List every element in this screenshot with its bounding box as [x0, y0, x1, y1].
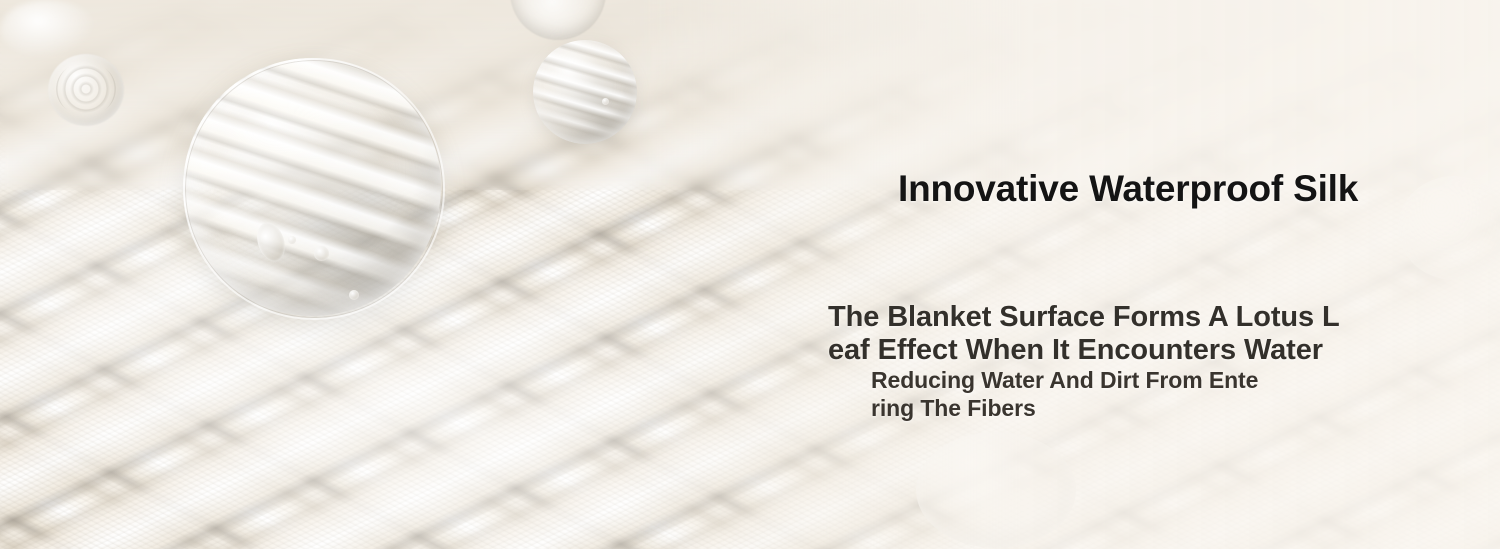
droplet-air-bubble: [314, 246, 329, 261]
banner-headline: Innovative Waterproof Silk: [898, 168, 1358, 210]
droplet-air-bubble: [349, 290, 359, 300]
small-left-droplet-refraction: [56, 62, 116, 116]
subtext-line: Reducing Water And Dirt From Ente: [871, 366, 1381, 394]
description-line: The Blanket Surface Forms A Lotus L: [828, 301, 1376, 334]
medium-droplet-refraction: [533, 40, 637, 144]
banner-description: The Blanket Surface Forms A Lotus L eaf …: [828, 301, 1376, 367]
description-line: eaf Effect When It Encounters Water: [828, 334, 1376, 367]
large-hero-droplet-rim: [183, 58, 445, 320]
text-legibility-wash: [630, 0, 1500, 549]
droplet-air-bubble: [288, 236, 296, 244]
subtext-line: ring The Fibers: [871, 394, 1381, 422]
large-hero-droplet-highlight: [0, 0, 96, 58]
banner-subtext: Reducing Water And Dirt From Ente ring T…: [871, 366, 1381, 422]
product-banner: Innovative Waterproof Silk The Blanket S…: [0, 0, 1500, 549]
droplet-air-bubble: [602, 98, 609, 105]
